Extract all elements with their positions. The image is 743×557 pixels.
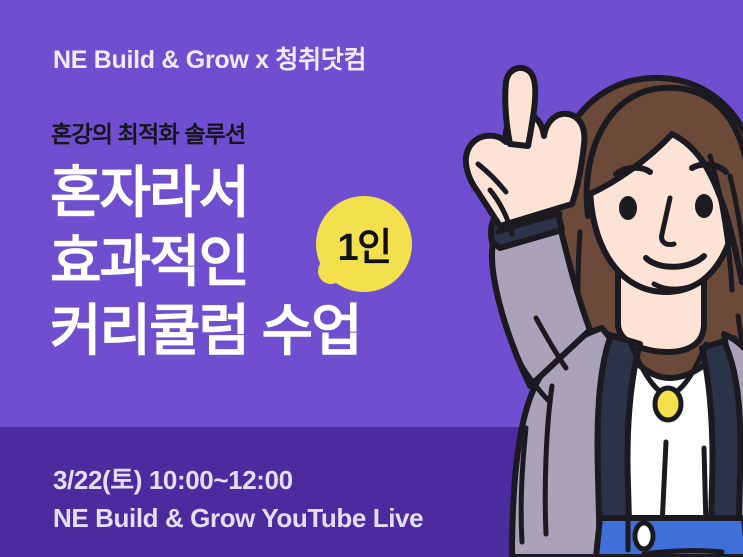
footer-info: 3/22(토) 10:00~12:00 NE Build & Grow YouT… (53, 461, 423, 537)
headline-line-3: 커리큘럼 수업 (50, 296, 480, 365)
subhead-text: 혼강의 최적화 솔루션 (51, 115, 245, 149)
footer-datetime: 3/22(토) 10:00~12:00 (53, 461, 423, 499)
headline-line-1: 혼자라서 (50, 158, 480, 227)
headline-line-2: 효과적인 (50, 227, 480, 296)
footer-channel: NE Build & Grow YouTube Live (53, 499, 423, 537)
kicker-text: NE Build & Grow x 청취닷컴 (53, 40, 366, 76)
speech-bubble-badge: 1인 (316, 196, 412, 292)
promo-banner: NE Build & Grow x 청취닷컴 혼강의 최적화 솔루션 혼자라서 … (0, 0, 743, 557)
headline: 혼자라서 효과적인 커리큘럼 수업 (50, 158, 480, 365)
speech-bubble-label: 1인 (316, 196, 412, 292)
text-layer: NE Build & Grow x 청취닷컴 혼강의 최적화 솔루션 혼자라서 … (0, 0, 743, 557)
